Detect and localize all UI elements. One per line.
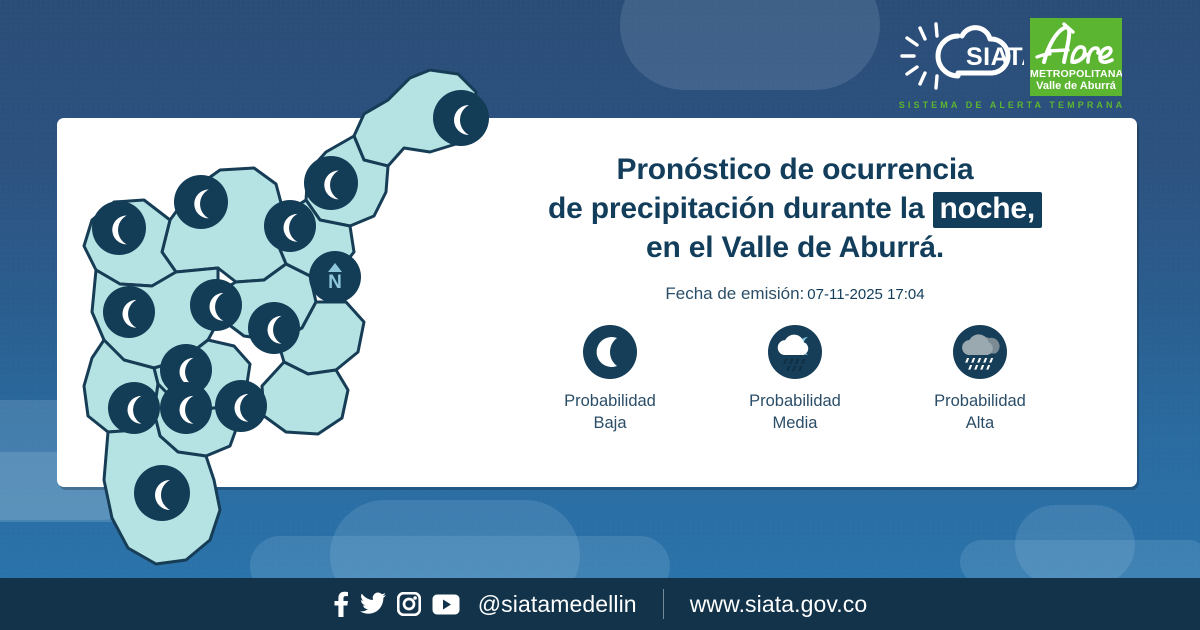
legend-label-media-line2: Media	[749, 413, 841, 435]
moon-icon	[134, 465, 190, 521]
map-marker-envigado[interactable]	[215, 380, 267, 432]
social-icons	[333, 591, 460, 617]
facebook-icon[interactable]	[333, 591, 349, 617]
map-marker-copacabana[interactable]	[264, 200, 316, 252]
moon-icon	[248, 302, 300, 354]
headline-highlight-noche: noche,	[933, 192, 1042, 228]
legend-icon-baja	[583, 325, 637, 379]
footer-bar: @siatamedellin www.siata.gov.co	[0, 578, 1200, 630]
emission-date-label: Fecha de emisión:	[665, 284, 804, 303]
area-logo-line2: Valle de Aburrá	[1030, 80, 1122, 92]
map-marker-caldas[interactable]	[134, 465, 190, 521]
valle-de-aburra-map: N	[58, 40, 478, 585]
logo-group: SIATA METROPOLITANA Valle de Aburrá SIST…	[896, 18, 1122, 114]
siata-wordmark: SIATA	[966, 43, 1024, 71]
map-marker-la-estrella[interactable]	[108, 382, 160, 434]
map-marker-medellin[interactable]	[248, 302, 300, 354]
legend-label-baja-line2: Baja	[564, 413, 656, 435]
moon-icon	[160, 382, 212, 434]
legend-item-media[interactable]: Probabilidad Media	[703, 325, 888, 435]
map-marker-west-upper[interactable]	[92, 201, 146, 255]
moon-icon	[108, 382, 160, 434]
moon-icon	[215, 380, 267, 432]
legend-label-alta-line2: Alta	[934, 413, 1026, 435]
moon-icon	[583, 325, 637, 379]
compass-label: N	[328, 273, 342, 292]
legend-icon-alta	[953, 325, 1007, 379]
headline-line-1: Pronóstico de ocurrencia	[470, 150, 1120, 189]
forecast-text-panel: Pronóstico de ocurrencia de precipitació…	[470, 150, 1120, 304]
legend-item-baja[interactable]: Probabilidad Baja	[518, 325, 703, 435]
emission-date-value: 07-11-2025 17:04	[807, 286, 924, 303]
map-marker-bello[interactable]	[190, 279, 242, 331]
instagram-icon[interactable]	[397, 592, 421, 616]
legend-label-baja: Probabilidad Baja	[564, 391, 656, 435]
compass-arrow-icon	[328, 263, 342, 272]
moon-icon	[174, 175, 228, 229]
legend-item-alta[interactable]: Probabilidad Alta	[888, 325, 1073, 435]
legend-label-media-line1: Probabilidad	[749, 391, 841, 413]
youtube-icon[interactable]	[432, 594, 460, 615]
map-marker-sabaneta[interactable]	[160, 382, 212, 434]
moon-icon	[92, 201, 146, 255]
legend-label-baja-line1: Probabilidad	[564, 391, 656, 413]
legend-label-alta-line1: Probabilidad	[934, 391, 1026, 413]
emission-date: Fecha de emisión:07-11-2025 17:04	[470, 284, 1120, 304]
legend-label-alta: Probabilidad Alta	[934, 391, 1026, 435]
map-marker-medellin-west[interactable]	[103, 286, 155, 338]
cloud-moon-rain-icon	[768, 325, 822, 379]
social-handle[interactable]: @siatamedellin	[478, 591, 637, 618]
headline-line-3: en el Valle de Aburrá.	[470, 228, 1120, 267]
headline-line-2-text: de precipitación durante la	[548, 192, 924, 225]
legend-label-media: Probabilidad Media	[749, 391, 841, 435]
infographic-canvas: N Pronóstico de ocurrencia de precipitac…	[0, 0, 1200, 630]
municipality-envigado	[262, 362, 348, 434]
headline-line-2: de precipitación durante la noche,	[470, 189, 1120, 228]
website-url[interactable]: www.siata.gov.co	[690, 591, 868, 618]
siata-tagline: SISTEMA DE ALERTA TEMPRANA	[902, 98, 1122, 112]
cloud-heavy-rain-icon	[953, 325, 1007, 379]
area-logo-line1: METROPOLITANA	[1030, 68, 1122, 80]
footer-divider	[663, 589, 664, 619]
map-marker-san-pedro[interactable]	[174, 175, 228, 229]
probability-legend: Probabilidad Baja	[470, 325, 1120, 435]
moon-icon	[103, 286, 155, 338]
moon-icon	[190, 279, 242, 331]
area-metropolitana-logo[interactable]: METROPOLITANA Valle de Aburrá	[1030, 18, 1122, 96]
siata-logo[interactable]: SIATA	[896, 20, 1024, 92]
page-title: Pronóstico de ocurrencia de precipitació…	[470, 150, 1120, 267]
area-script-mark	[1034, 20, 1118, 70]
map-marker-barbosa[interactable]	[433, 90, 489, 146]
compass-north-indicator: N	[309, 251, 361, 303]
moon-icon	[433, 90, 489, 146]
moon-icon	[264, 200, 316, 252]
twitter-icon[interactable]	[360, 592, 386, 616]
background-cloud-7	[620, 0, 880, 90]
legend-icon-media	[768, 325, 822, 379]
